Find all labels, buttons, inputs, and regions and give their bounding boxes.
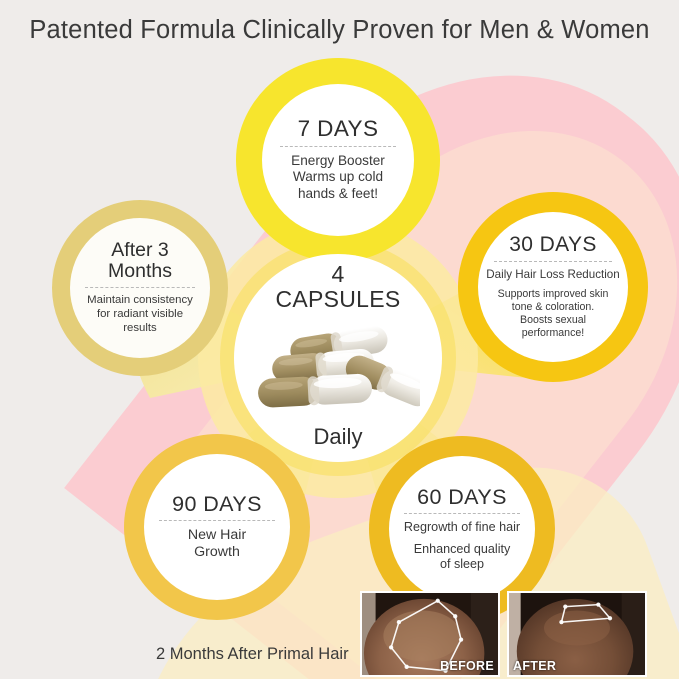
divider-line — [85, 287, 195, 288]
milestone-circle-7-days[interactable]: 7 DAYS Energy Booster Warms up cold hand… — [236, 58, 440, 262]
capsules-image — [256, 320, 420, 412]
body-lead: Regrowth of fine hair — [404, 520, 520, 535]
milestone-content-30-days: 30 DAYS Daily Hair Loss Reduction Suppor… — [478, 212, 628, 362]
milestone-heading-30-days: 30 DAYS — [509, 234, 597, 256]
milestone-body-after-3-months: Maintain consistency for radiant visible… — [87, 294, 193, 336]
heading-line-2: Months — [108, 260, 172, 282]
body-line: Growth — [188, 544, 246, 561]
milestone-circle-30-days[interactable]: 30 DAYS Daily Hair Loss Reduction Suppor… — [458, 192, 648, 382]
body-line: of sleep — [404, 557, 520, 572]
body-line: tone & coloration. — [486, 301, 619, 314]
body-line: Energy Booster — [291, 153, 385, 170]
center-heading: 4 CAPSULES — [275, 262, 400, 312]
milestone-body-7-days: Energy Booster Warms up cold hands & fee… — [291, 153, 385, 203]
body-lead: Daily Hair Loss Reduction — [486, 268, 619, 282]
milestone-body-90-days: New Hair Growth — [188, 527, 246, 562]
milestone-content-after-3-months: After 3 Months Maintain consistency for … — [70, 218, 210, 358]
divider-line — [404, 513, 519, 514]
body-line: performance! — [486, 327, 619, 340]
center-heading-line-1: 4 — [331, 261, 344, 287]
body-line: New Hair — [188, 527, 246, 544]
center-circle-capsules[interactable]: 4 CAPSULES — [234, 254, 442, 462]
milestone-content-60-days: 60 DAYS Regrowth of fine hair Enhanced q… — [389, 456, 535, 602]
body-line: Boosts sexual — [486, 314, 619, 327]
center-footer: Daily — [234, 424, 442, 450]
milestone-heading-7-days: 7 DAYS — [298, 117, 379, 140]
divider-line — [280, 146, 397, 147]
results-caption: 2 Months After Primal Hair — [156, 645, 349, 664]
body-line: Warms up cold — [291, 169, 385, 186]
milestone-heading-after-3-months: After 3 Months — [108, 240, 172, 281]
milestone-heading-60-days: 60 DAYS — [417, 486, 507, 508]
center-heading-line-2: CAPSULES — [275, 286, 400, 312]
milestone-body-60-days: Regrowth of fine hair Enhanced quality o… — [404, 520, 520, 572]
divider-line — [159, 520, 274, 521]
photo-before[interactable]: BEFORE — [360, 591, 500, 677]
body-line: results — [87, 322, 193, 336]
body-line: Maintain consistency — [87, 294, 193, 308]
page-title: Patented Formula Clinically Proven for M… — [0, 16, 679, 45]
heading-line-1: After 3 — [111, 239, 168, 261]
photo-label-before: BEFORE — [440, 659, 494, 673]
milestone-content-90-days: 90 DAYS New Hair Growth — [144, 454, 290, 600]
photo-after[interactable]: AFTER — [507, 591, 647, 677]
divider-line — [494, 261, 613, 262]
body-line: for radiant visible — [87, 308, 193, 322]
body-line: Enhanced quality — [404, 542, 520, 557]
photo-label-after: AFTER — [513, 659, 556, 673]
body-line: Supports improved skin — [486, 288, 619, 301]
infographic-canvas: Patented Formula Clinically Proven for M… — [0, 0, 679, 679]
milestone-content-7-days: 7 DAYS Energy Booster Warms up cold hand… — [262, 84, 414, 236]
milestone-body-30-days: Daily Hair Loss Reduction Supports impro… — [486, 268, 619, 340]
milestone-heading-90-days: 90 DAYS — [172, 493, 262, 515]
milestone-circle-90-days[interactable]: 90 DAYS New Hair Growth — [124, 434, 310, 620]
before-after-photos: BEFORE — [360, 591, 648, 677]
milestone-circle-after-3-months[interactable]: After 3 Months Maintain consistency for … — [52, 200, 228, 376]
body-line: hands & feet! — [291, 186, 385, 203]
